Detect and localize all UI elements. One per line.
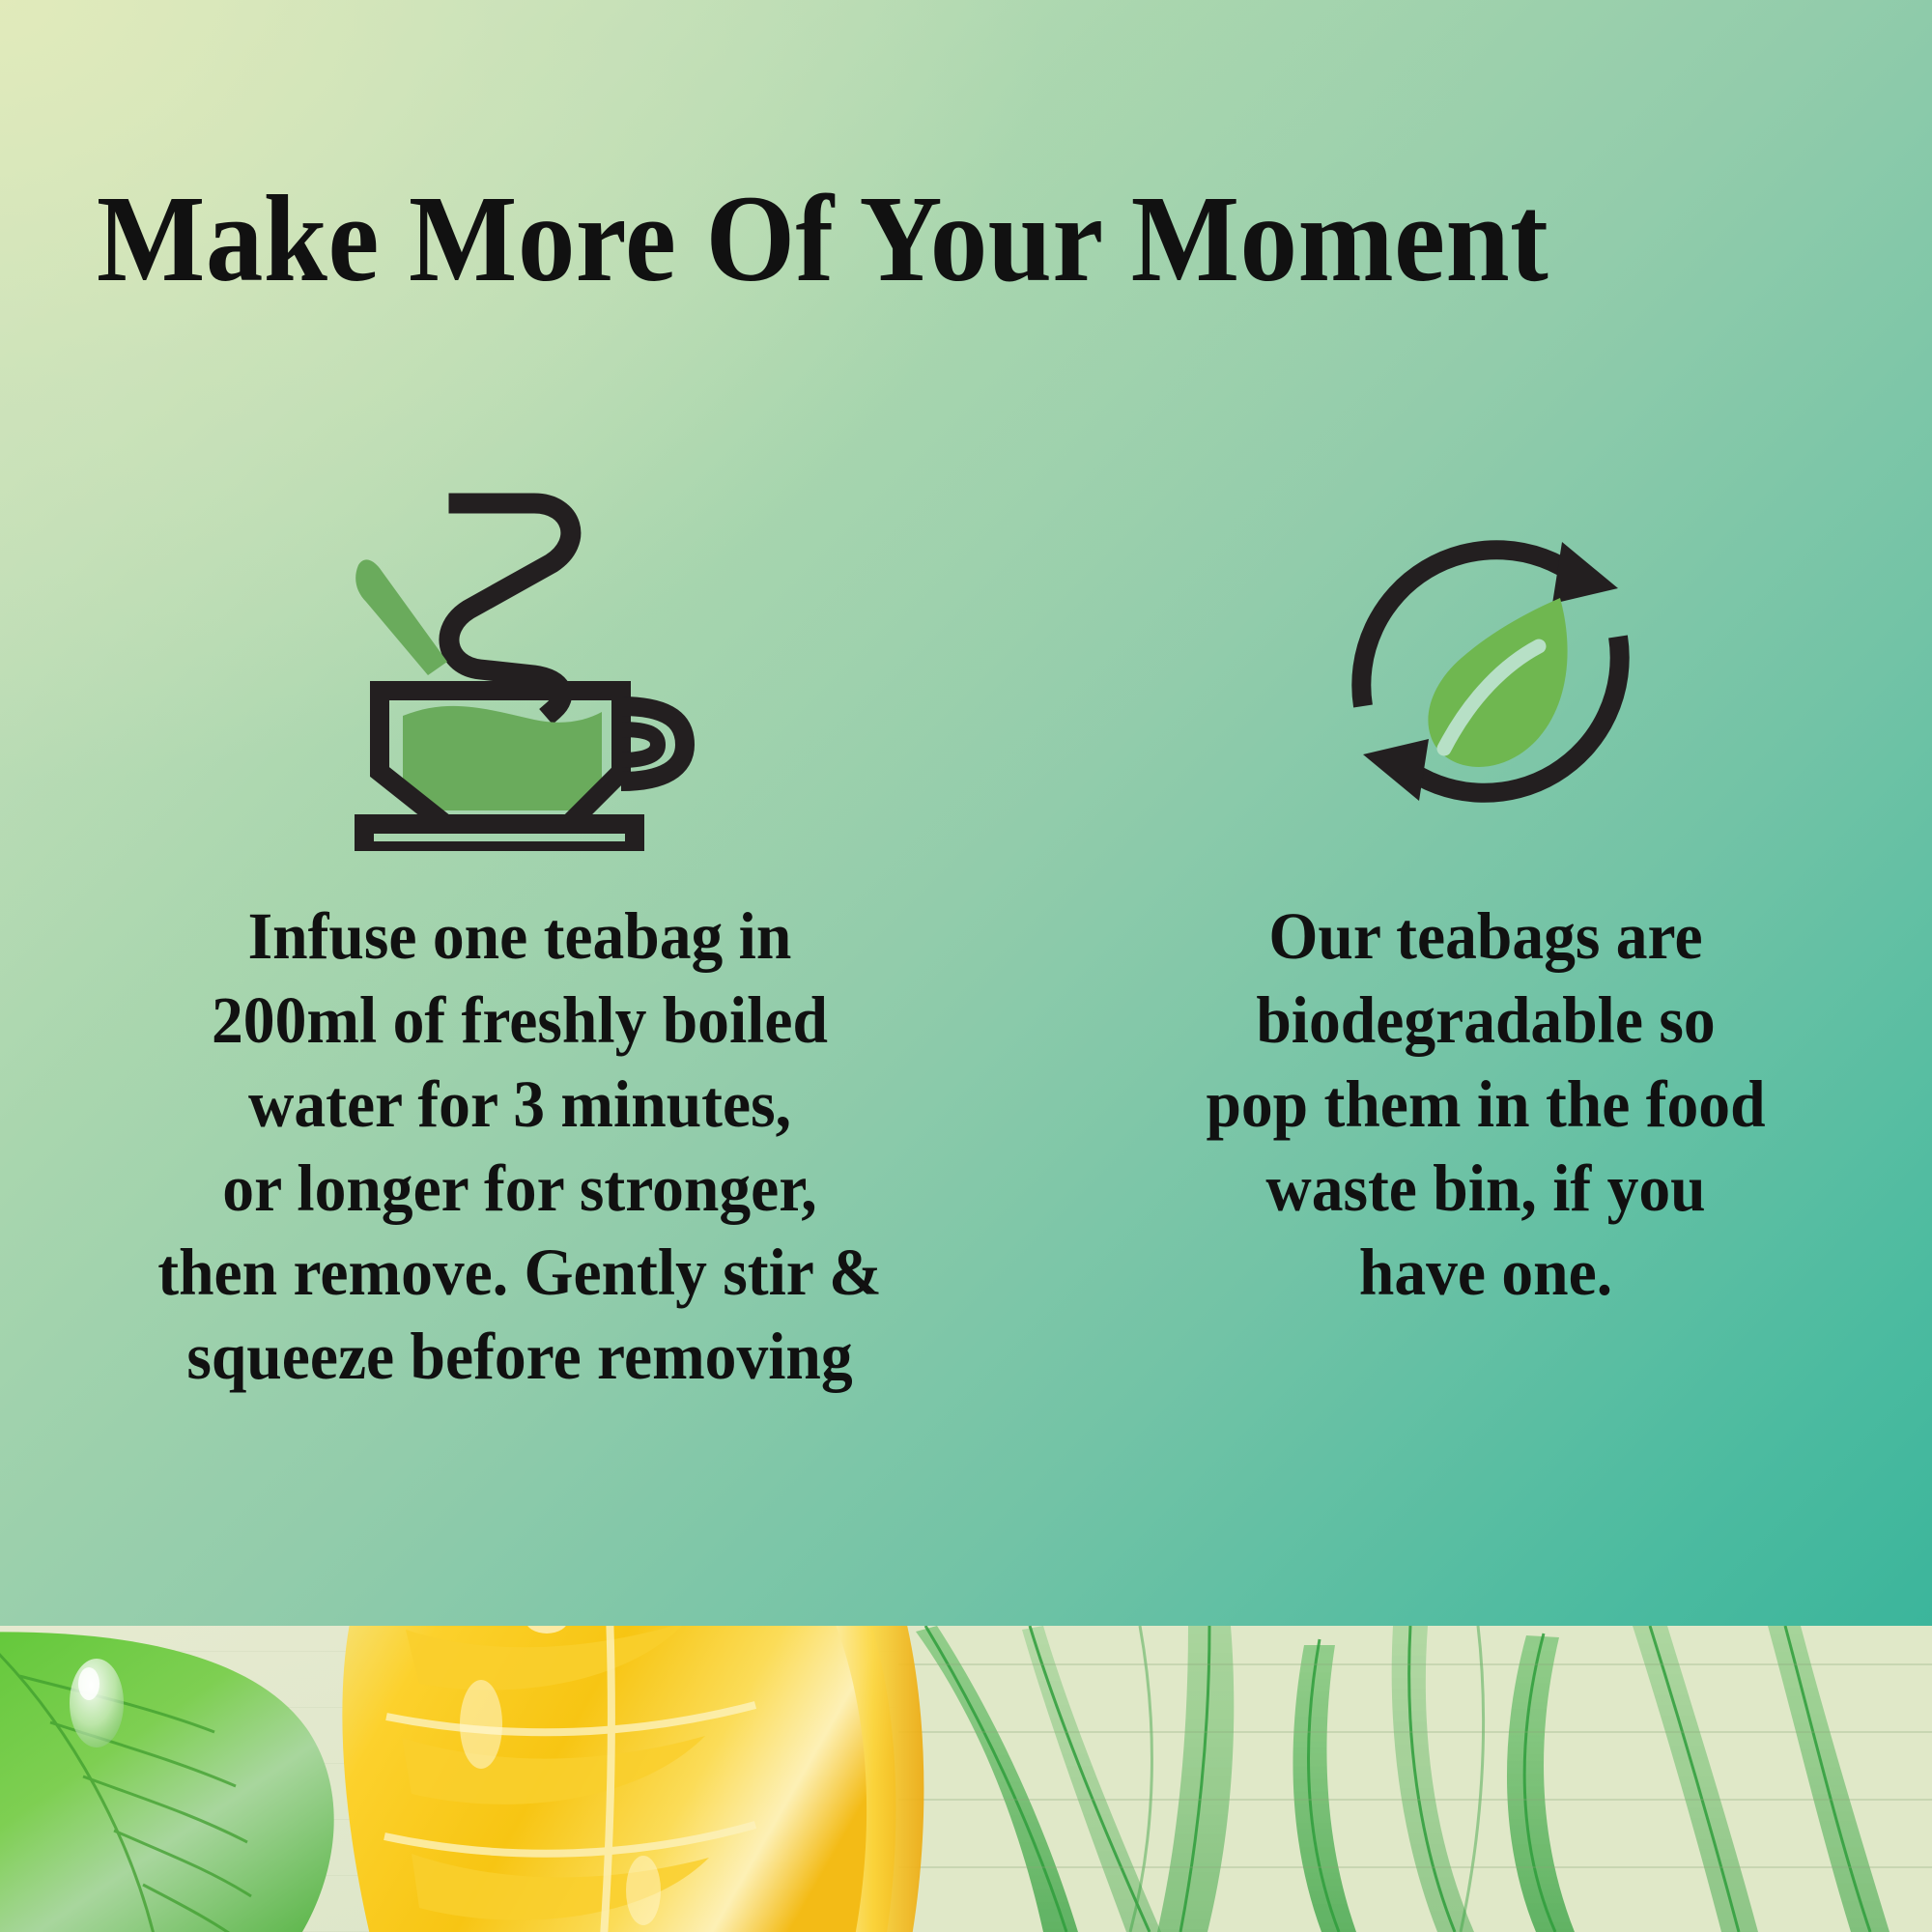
instruction-line: have one.	[1119, 1231, 1853, 1315]
botanical-leaf-illustration	[898, 1626, 1932, 1932]
instruction-columns: Infuse one teabag in 200ml of freshly bo…	[0, 483, 1932, 1399]
brewing-instructions-text: Infuse one teabag in 200ml of freshly bo…	[56, 895, 983, 1399]
instruction-line: pop them in the food	[1119, 1063, 1853, 1147]
disposal-instructions-text: Our teabags are biodegradable so pop the…	[1119, 895, 1853, 1315]
lemon-slice	[319, 1626, 956, 1932]
instruction-line: waste bin, if you	[1119, 1147, 1853, 1231]
instruction-line: 200ml of freshly boiled	[56, 979, 983, 1063]
column-disposal-instructions: Our teabags are biodegradable so pop the…	[1038, 483, 1932, 1315]
instruction-line: squeeze before removing	[56, 1315, 983, 1399]
instruction-line: Our teabags are	[1119, 895, 1853, 979]
bottom-photo-strip	[0, 1626, 1932, 1932]
column-brewing-instructions: Infuse one teabag in 200ml of freshly bo…	[0, 483, 1038, 1399]
page-title: Make More Of Your Moment	[97, 174, 1719, 303]
instruction-line: water for 3 minutes,	[56, 1063, 983, 1147]
teacup-with-steam-icon	[326, 483, 731, 860]
instruction-line: biodegradable so	[1119, 979, 1853, 1063]
instruction-line: or longer for stronger,	[56, 1147, 983, 1231]
promo-graphic: Make More Of Your Moment	[0, 0, 1932, 1932]
instruction-line: Infuse one teabag in	[56, 895, 983, 979]
recycle-leaf-icon	[1317, 483, 1664, 860]
instruction-line: then remove. Gently stir &	[56, 1231, 983, 1315]
